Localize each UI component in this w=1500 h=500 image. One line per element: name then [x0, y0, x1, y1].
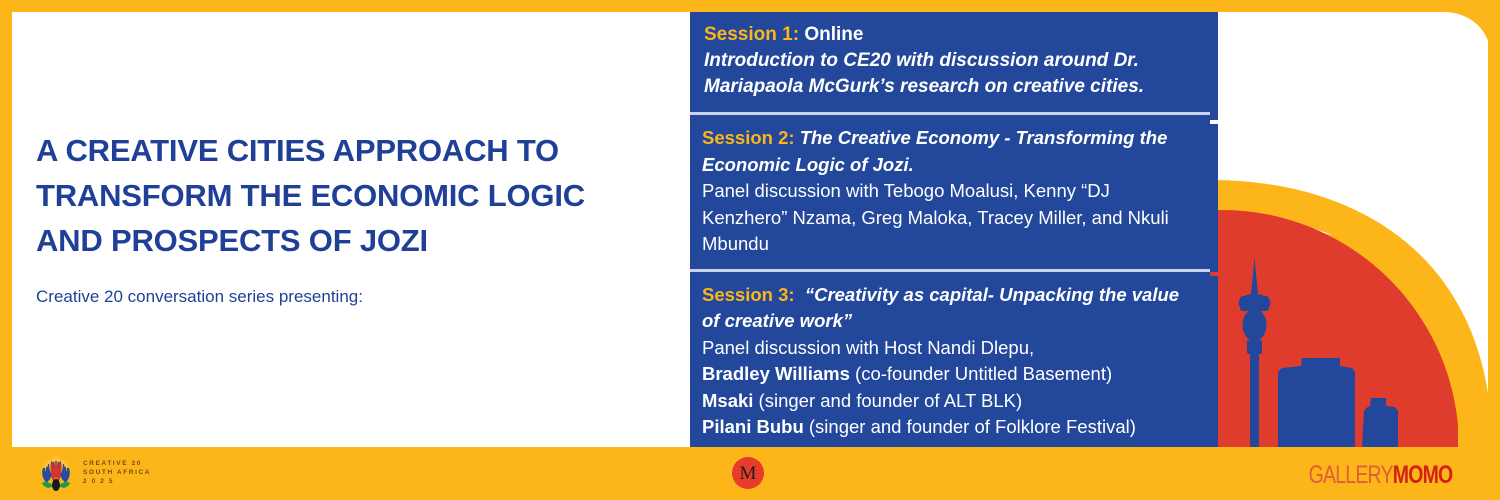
creative20-wordmark: CREATIVE 20 SOUTH AFRICA 2 0 2 5 [83, 460, 151, 486]
panelist-detail: (singer and founder of ALT BLK) [753, 390, 1022, 411]
momo-circle-logo: M [732, 457, 764, 489]
session-card-3: Session 3: “Creativity as capital- Unpac… [690, 269, 1210, 449]
skyline-svg [1210, 0, 1500, 447]
gallery-momo-logo: GALLERYMOMO [1308, 463, 1452, 488]
session-2-label: Session 2: [702, 127, 795, 148]
session-3-body-intro: Panel discussion with Host Nandi Dlepu, [702, 335, 1196, 362]
panelist-name: Pilani Bubu [702, 416, 804, 437]
session-1-mode-text: Online [804, 24, 863, 45]
panel-edge-1 [1210, 12, 1218, 120]
frame-left-border [0, 0, 12, 500]
session-2-heading: Session 2: The Creative Economy - Transf… [702, 125, 1196, 178]
page-title: A CREATIVE CITIES APPROACH TO TRANSFORM … [36, 128, 656, 263]
panelist-name: Msaki [702, 390, 753, 411]
session-1-description: Introduction to CE20 with discussion aro… [704, 48, 1196, 100]
creative20-line1: CREATIVE 20 [83, 460, 151, 468]
momo-word: MOMO [1392, 463, 1452, 488]
panelist-row: Bradley Williams (co-founder Untitled Ba… [702, 361, 1196, 388]
session-3-gap [795, 284, 805, 305]
skyline-graphic [1210, 0, 1500, 447]
panel-edge-3 [1210, 276, 1218, 447]
panelist-row: Msaki (singer and founder of ALT BLK) [702, 388, 1196, 415]
building-large [1278, 358, 1355, 447]
frame-top-border [0, 0, 1500, 12]
session-2-body: Panel discussion with Tebogo Moalusi, Ke… [702, 178, 1196, 258]
panelist-detail: (co-founder Untitled Basement) [850, 363, 1112, 384]
momo-logo-letter: M [740, 464, 757, 483]
poster-canvas: A CREATIVE CITIES APPROACH TO TRANSFORM … [0, 0, 1500, 500]
creative20-logo: CREATIVE 20 SOUTH AFRICA 2 0 2 5 [36, 452, 151, 494]
panelist-row: Pilani Bubu (singer and founder of Folkl… [702, 414, 1196, 441]
protea-flower-icon [36, 453, 76, 493]
panelist-detail: (singer and founder of Folklore Festival… [804, 416, 1136, 437]
session-card-2: Session 2: The Creative Economy - Transf… [690, 112, 1210, 269]
frame-right-border [1488, 0, 1500, 500]
gallery-word: GALLERY [1308, 463, 1392, 488]
panelist-name: Bradley Williams [702, 363, 850, 384]
page-subtitle: Creative 20 conversation series presenti… [36, 285, 656, 309]
session-list: Session 1: Online Introduction to CE20 w… [690, 8, 1210, 449]
session-1-label: Session 1: [704, 24, 799, 45]
session-3-heading: Session 3: “Creativity as capital- Unpac… [702, 282, 1196, 335]
left-column: A CREATIVE CITIES APPROACH TO TRANSFORM … [36, 128, 656, 309]
panel-edge-2 [1210, 124, 1218, 272]
creative20-line2: SOUTH AFRICA [83, 469, 151, 477]
session-card-1: Session 1: Online Introduction to CE20 w… [690, 8, 1210, 112]
session-1-heading: Session 1: Online [704, 22, 1196, 48]
session-3-label: Session 3: [702, 284, 795, 305]
creative20-line3: 2 0 2 5 [83, 478, 151, 486]
